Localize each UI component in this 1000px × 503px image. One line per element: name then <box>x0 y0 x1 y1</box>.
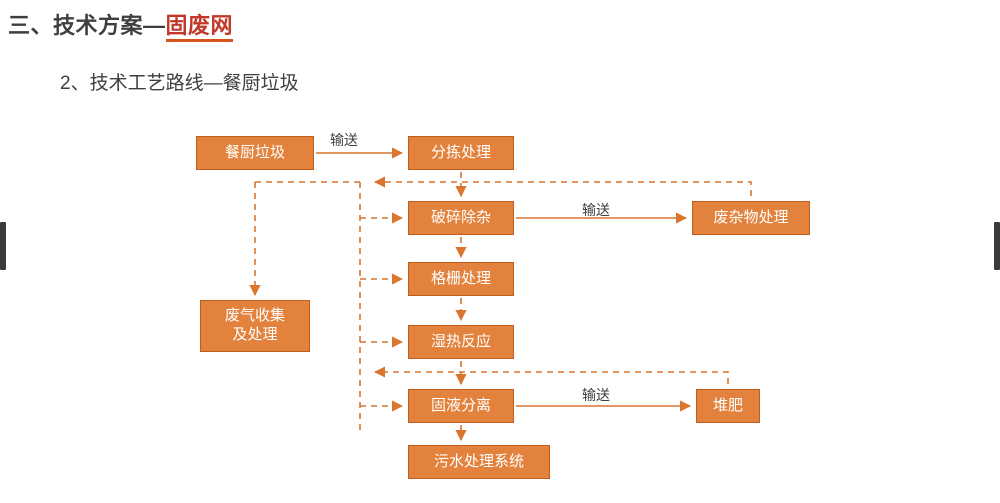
flow-edge-label-transport_2: 输送 <box>582 200 610 220</box>
flow-node-sorting[interactable]: 分拣处理 <box>408 136 514 170</box>
flow-node-wet_heat[interactable]: 湿热反应 <box>408 325 514 359</box>
flow-node-grating[interactable]: 格栅处理 <box>408 262 514 296</box>
flow-edge-label-transport_3: 输送 <box>582 385 610 405</box>
flow-edge-label-transport_1: 输送 <box>330 130 358 150</box>
edge-compost-return <box>375 372 728 384</box>
flow-node-compost[interactable]: 堆肥 <box>696 389 760 423</box>
flow-node-waste_sundries[interactable]: 废杂物处理 <box>692 201 810 235</box>
flow-node-crushing[interactable]: 破碎除杂 <box>408 201 514 235</box>
flowchart-canvas <box>0 0 1000 503</box>
flow-node-kitchen_waste[interactable]: 餐厨垃圾 <box>196 136 314 170</box>
flow-node-sewage[interactable]: 污水处理系统 <box>408 445 550 479</box>
flow-node-gas_collect[interactable]: 废气收集 及处理 <box>200 300 310 352</box>
edge-sundries-return-to-sorting <box>375 182 751 196</box>
flow-node-solid_liquid[interactable]: 固液分离 <box>408 389 514 423</box>
